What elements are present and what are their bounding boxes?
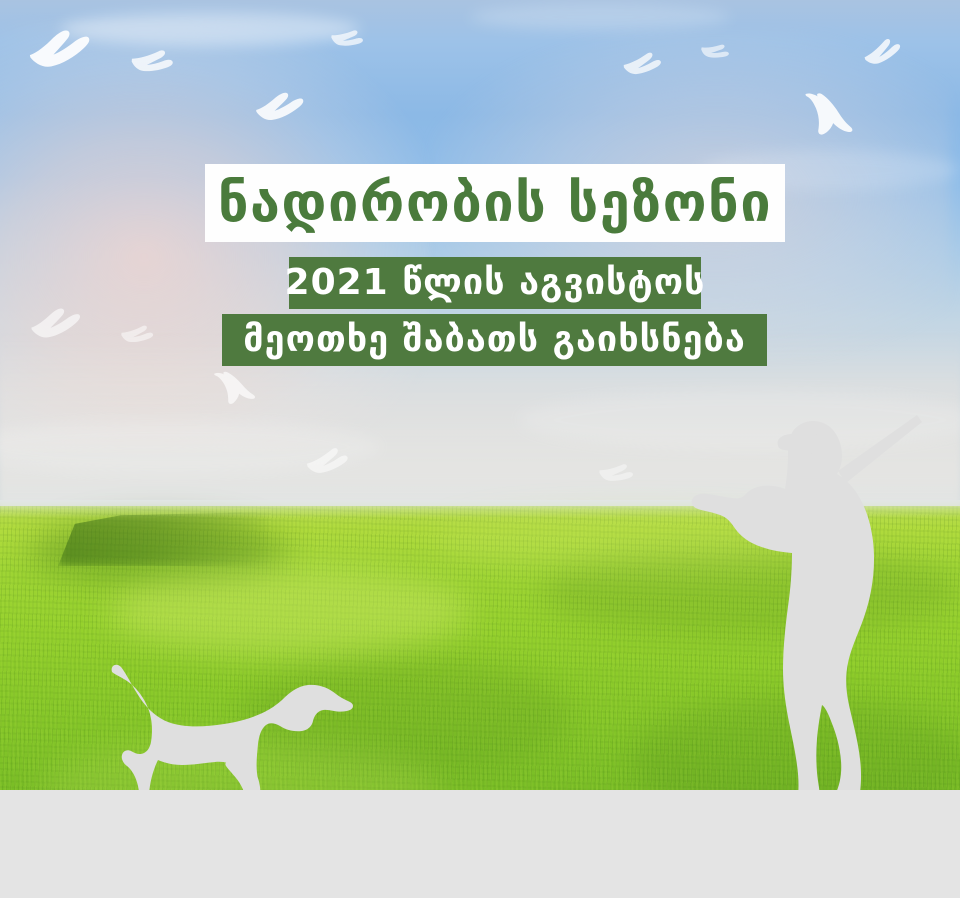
poster-canvas: ნადირობის სეზონი 2021 წლის აგვისტოს მეოთ… bbox=[0, 0, 960, 898]
subtitle-line-1: 2021 წლის აგვისტოს bbox=[285, 265, 706, 301]
rifle-barrel bbox=[838, 415, 922, 483]
foreground-ground bbox=[0, 790, 960, 898]
subtitle-band-1: 2021 წლის აგვისტოს bbox=[289, 257, 701, 309]
cloud-streak-2 bbox=[470, 4, 730, 30]
hunter-silhouette bbox=[660, 405, 960, 855]
cloud-streak-1 bbox=[60, 12, 360, 46]
grass-highlight-1 bbox=[110, 566, 470, 656]
page-title: ნადირობის სეზონი bbox=[218, 176, 772, 230]
subtitle-line-2: მეოთხე შაბათს გაიხსნება bbox=[243, 322, 746, 358]
subtitle-band-2: მეოთხე შაბათს გაიხსნება bbox=[222, 314, 767, 366]
headline-banner: ნადირობის სეზონი bbox=[205, 164, 785, 242]
